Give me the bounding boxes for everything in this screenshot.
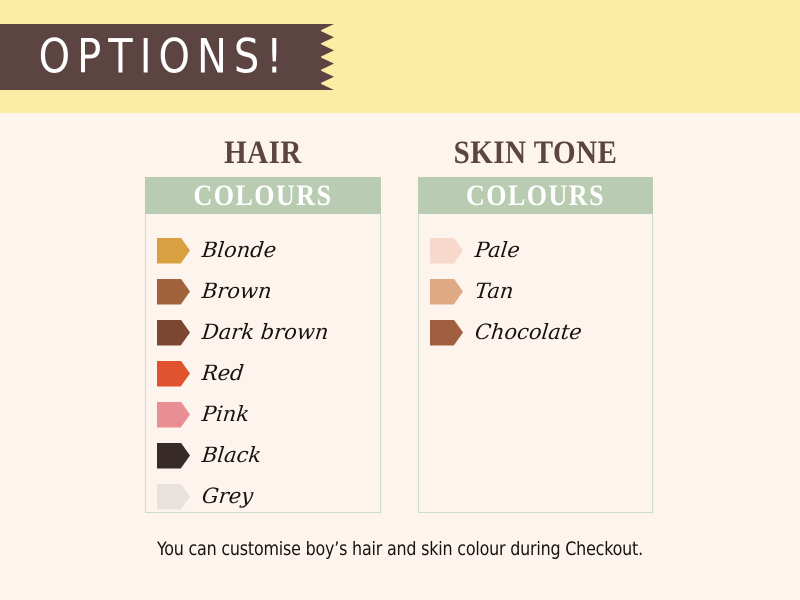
colour-option-label: Grey	[201, 486, 254, 507]
colour-option-label: Chocolate	[474, 322, 583, 343]
skin-colours-header: COLOURS	[418, 177, 653, 214]
colour-option-row[interactable]: Tan	[419, 271, 652, 312]
colour-swatch-icon	[430, 320, 463, 346]
colour-swatch-icon	[430, 238, 463, 264]
colour-swatch-icon	[157, 361, 190, 387]
section-title-skin-tone: SKIN TONE	[418, 135, 653, 172]
section-title-hair: HAIR	[145, 135, 381, 172]
colour-option-row[interactable]: Grey	[146, 476, 380, 517]
colour-swatch-icon	[157, 320, 190, 346]
ribbon-zigzag-edge	[320, 24, 334, 90]
colour-option-label: Black	[201, 445, 262, 466]
colour-swatch-icon	[157, 484, 190, 510]
skin-tone-colours-panel: COLOURS PaleTanChocolate	[418, 177, 653, 513]
colour-option-row[interactable]: Red	[146, 353, 380, 394]
colour-option-label: Pale	[474, 240, 521, 261]
colour-swatch-icon	[157, 443, 190, 469]
colour-option-label: Red	[201, 363, 245, 384]
hair-colours-panel: COLOURS BlondeBrownDark brownRedPinkBlac…	[145, 177, 381, 513]
hair-colours-header: COLOURS	[145, 177, 381, 214]
colour-option-row[interactable]: Pale	[419, 230, 652, 271]
colour-option-row[interactable]: Brown	[146, 271, 380, 312]
colour-option-row[interactable]: Black	[146, 435, 380, 476]
colour-option-row[interactable]: Chocolate	[419, 312, 652, 353]
colour-option-label: Pink	[201, 404, 250, 425]
colour-swatch-icon	[157, 238, 190, 264]
options-ribbon: OPTIONS!	[0, 24, 334, 90]
colour-swatch-icon	[157, 279, 190, 305]
skin-tone-colour-list: PaleTanChocolate	[419, 230, 652, 353]
hair-colour-list: BlondeBrownDark brownRedPinkBlackGrey	[146, 230, 380, 517]
colour-option-label: Tan	[474, 281, 515, 302]
colour-option-label: Dark brown	[201, 322, 330, 343]
colour-option-row[interactable]: Pink	[146, 394, 380, 435]
colour-swatch-icon	[157, 402, 190, 428]
hair-colours-header-label: COLOURS	[193, 179, 332, 213]
colour-option-row[interactable]: Blonde	[146, 230, 380, 271]
colour-option-label: Brown	[201, 281, 273, 302]
colour-option-row[interactable]: Dark brown	[146, 312, 380, 353]
colour-swatch-icon	[430, 279, 463, 305]
ribbon-title: OPTIONS!	[0, 18, 321, 96]
colour-option-label: Blonde	[201, 240, 277, 261]
skin-colours-header-label: COLOURS	[466, 179, 605, 213]
footer-caption: You can customise boy’s hair and skin co…	[28, 538, 772, 560]
